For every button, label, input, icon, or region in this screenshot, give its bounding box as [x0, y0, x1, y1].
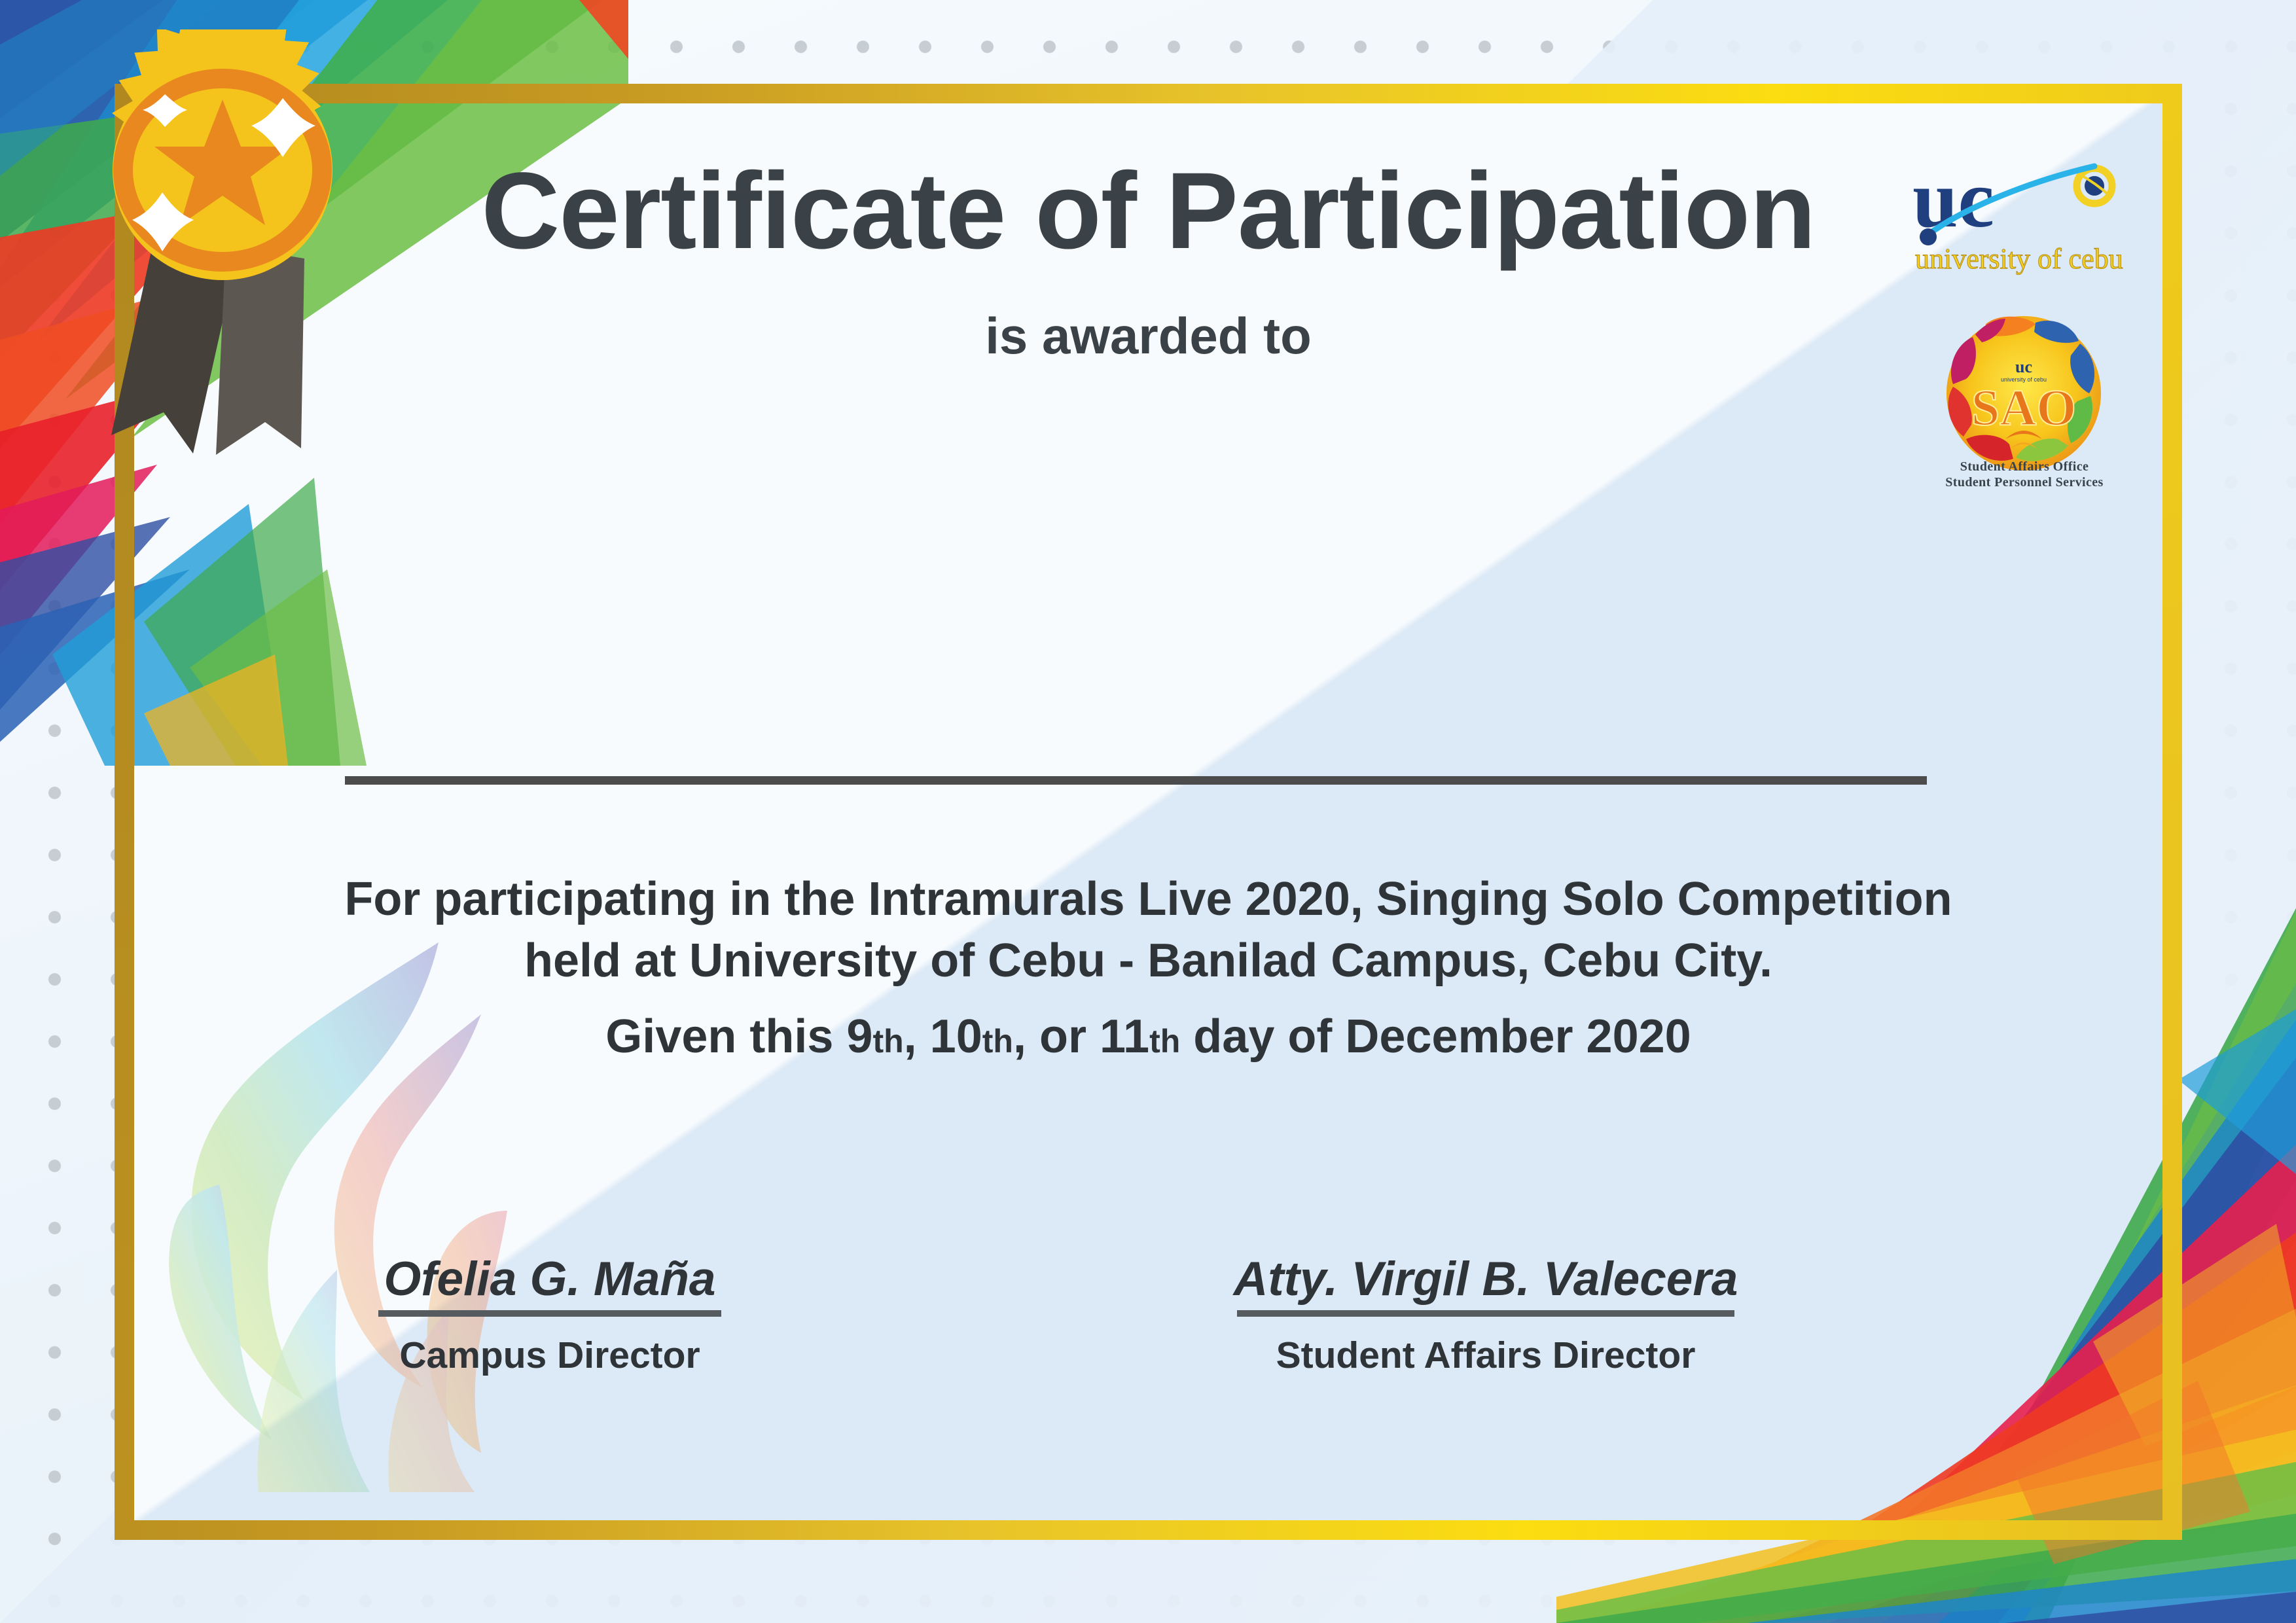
signatory-name: Atty. Virgil B. Valecera	[1158, 1252, 1813, 1306]
svg-text:SAO: SAO	[1971, 379, 2076, 436]
given-ordinal-2: th	[982, 1023, 1013, 1060]
given-suffix: day of December 2020	[1180, 1010, 1691, 1063]
award-date: Given this 9th, 10th, or 11th day of Dec…	[206, 1010, 2090, 1063]
given-day-1: 9	[846, 1010, 872, 1063]
signature-rule	[1237, 1310, 1734, 1317]
certificate-title: Certificate of Participation	[115, 149, 2182, 274]
signatory-role: Campus Director	[295, 1334, 805, 1377]
svg-text:university of cebu: university of cebu	[1915, 243, 2123, 275]
sao-caption: Student Affairs Office Student Personnel…	[1922, 459, 2126, 491]
signature-rule	[378, 1310, 721, 1317]
certificate-page: Certificate of Participation is awarded …	[0, 0, 2296, 1623]
certificate-body: For participating in the Intramurals Liv…	[206, 869, 2090, 991]
svg-text:uc: uc	[2015, 357, 2032, 376]
signature-block-campus-director: Ofelia G. Maña Campus Director	[295, 1252, 805, 1377]
sao-caption-line-1: Student Affairs Office	[1922, 459, 2126, 474]
body-line-2: held at University of Cebu - Banilad Cam…	[524, 935, 1772, 987]
given-prefix: Given this	[605, 1010, 846, 1063]
signatory-role: Student Affairs Director	[1158, 1334, 1813, 1377]
given-separator-2: , or	[1013, 1010, 1100, 1063]
awarded-to-label: is awarded to	[115, 306, 2182, 366]
signatory-name: Ofelia G. Maña	[295, 1252, 805, 1306]
given-separator-1: ,	[904, 1010, 930, 1063]
given-day-3: 11	[1100, 1010, 1149, 1063]
given-ordinal-3: th	[1149, 1023, 1180, 1060]
body-line-1: For participating in the Intramurals Liv…	[344, 873, 1952, 925]
certificate-content: Certificate of Participation is awarded …	[115, 84, 2182, 1540]
sao-caption-line-2: Student Personnel Services	[1922, 474, 2126, 490]
uc-logo-icon: uc university of cebu	[1901, 156, 2136, 280]
given-ordinal-1: th	[872, 1023, 903, 1060]
recipient-name-rule	[345, 776, 1927, 785]
given-day-2: 10	[930, 1010, 982, 1063]
signature-block-student-affairs-director: Atty. Virgil B. Valecera Student Affairs…	[1158, 1252, 1813, 1377]
